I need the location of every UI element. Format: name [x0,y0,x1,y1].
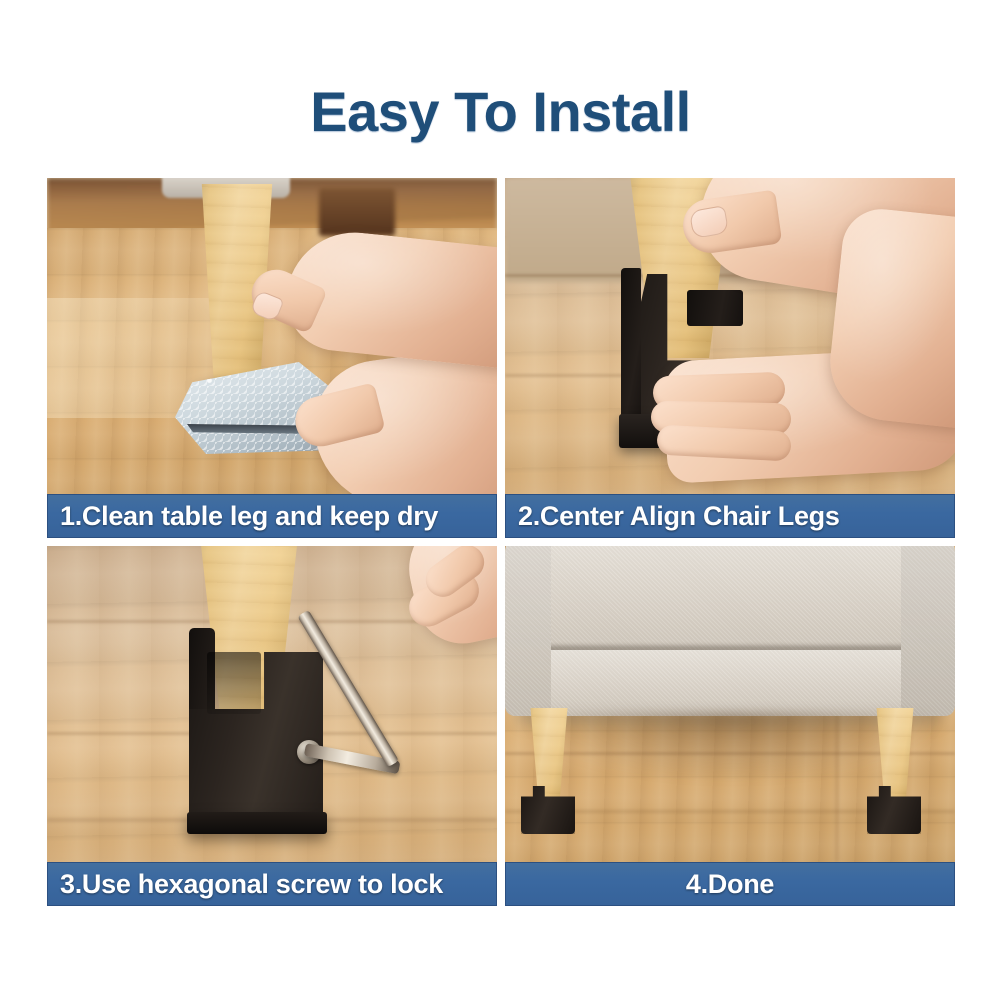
step-2-caption: 2.Center Align Chair Legs [505,494,955,538]
riser-block-inner-notch [207,652,261,714]
sofa-left-arm [505,546,551,716]
step-4-photo [505,546,955,862]
step-card-1: 1.Clean table leg and keep dry [47,178,497,538]
step-3-caption: 3.Use hexagonal screw to lock [47,862,497,906]
step-card-4: 4.Done [505,546,955,906]
step-card-3: 3.Use hexagonal screw to lock [47,546,497,906]
steps-grid: 1.Clean table leg and keep dry [47,178,955,906]
step-3-photo [47,546,497,862]
step-4-caption: 4.Done [505,862,955,906]
sofa-seat-cushion [513,546,947,654]
step-1-caption: 1.Clean table leg and keep dry [47,494,497,538]
sofa-right-arm [901,546,955,716]
background-table-foot [319,188,395,236]
step-1-photo [47,178,497,494]
riser-block-right-wall [687,290,743,326]
forearm [824,205,955,428]
step-2-photo [505,178,955,494]
sofa-base-rail [517,650,943,716]
riser-block-bottom-edge [187,812,327,834]
sofa-under-shadow [525,712,939,780]
page-title: Easy To Install [0,84,1001,140]
step-card-2: 2.Center Align Chair Legs [505,178,955,538]
